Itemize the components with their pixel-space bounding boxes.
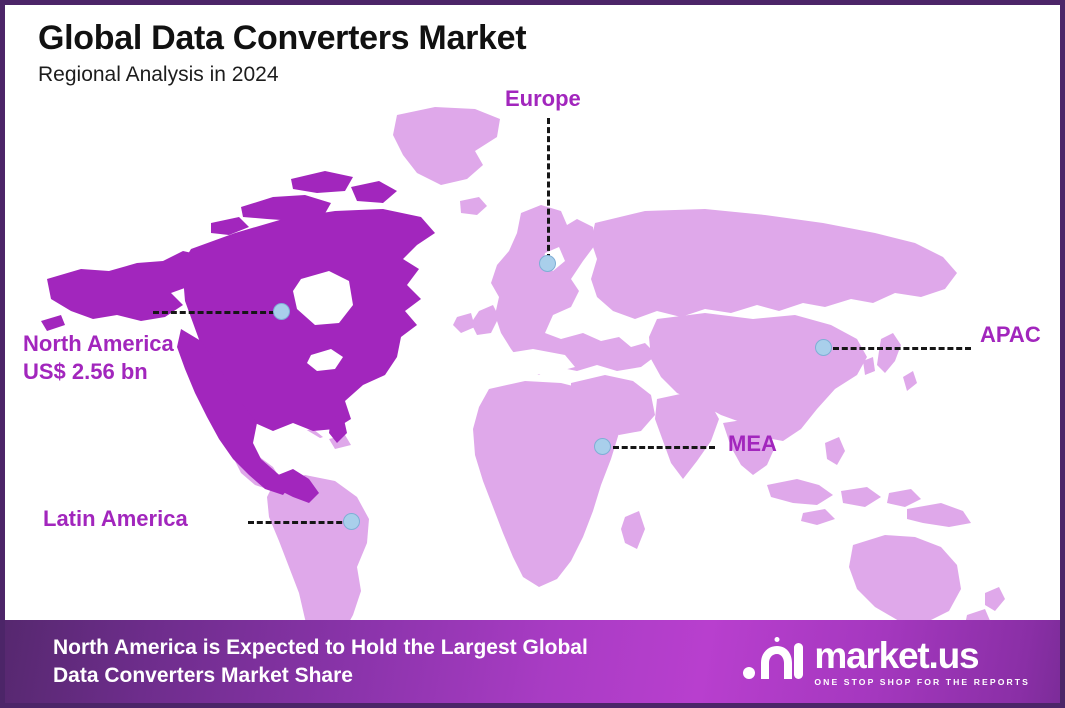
market-us-glyph-icon xyxy=(742,637,804,681)
region-label-latin-america[interactable]: Latin America xyxy=(43,505,188,533)
region-label-apac[interactable]: APAC xyxy=(980,321,1041,349)
map-marker-europe[interactable] xyxy=(539,255,556,272)
page-subtitle: Regional Analysis in 2024 xyxy=(38,63,798,87)
logo-wordmark: market.us xyxy=(814,637,1030,674)
region-label-europe[interactable]: Europe xyxy=(505,85,581,113)
logo-tagline: ONE STOP SHOP FOR THE REPORTS xyxy=(814,678,1030,687)
region-label-north-america[interactable]: North America US$ 2.56 bn xyxy=(23,330,174,386)
leader-line-north-america xyxy=(153,311,275,314)
market-us-logo[interactable]: market.us ONE STOP SHOP FOR THE REPORTS xyxy=(742,637,1030,687)
leader-line-latin-america xyxy=(248,521,351,524)
region-label-mea[interactable]: MEA xyxy=(728,430,777,458)
header: Global Data Converters Market Regional A… xyxy=(38,19,798,87)
page-title: Global Data Converters Market xyxy=(38,19,798,57)
map-marker-mea[interactable] xyxy=(594,438,611,455)
infographic-root: Global Data Converters Market Regional A… xyxy=(0,0,1065,708)
footer-banner: North America is Expected to Hold the La… xyxy=(5,620,1060,703)
map-marker-apac[interactable] xyxy=(815,339,832,356)
leader-line-europe xyxy=(547,118,550,260)
logo-text-block: market.us ONE STOP SHOP FOR THE REPORTS xyxy=(814,637,1030,687)
footer-headline: North America is Expected to Hold the La… xyxy=(53,634,588,690)
leader-line-apac xyxy=(833,347,971,350)
leader-line-mea xyxy=(613,446,715,449)
map-marker-north-america[interactable] xyxy=(273,303,290,320)
map-marker-latin-america[interactable] xyxy=(343,513,360,530)
logo-mark-icon xyxy=(742,637,804,686)
